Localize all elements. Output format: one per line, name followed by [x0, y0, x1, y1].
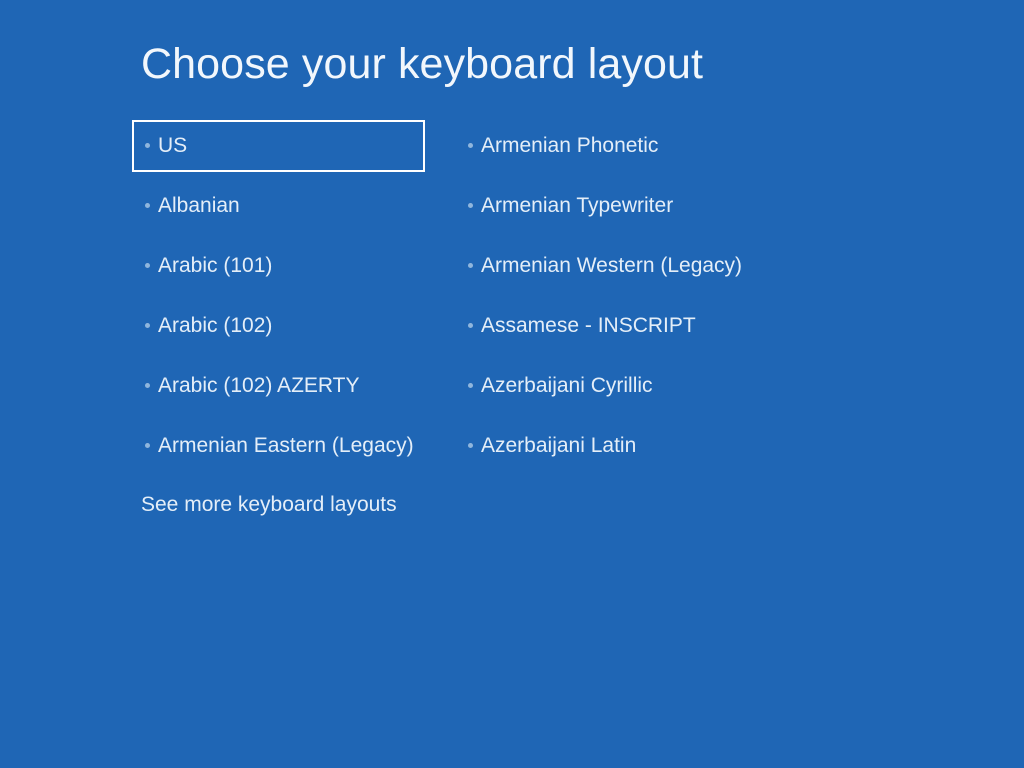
see-more-keyboard-layouts-link[interactable]: See more keyboard layouts — [141, 492, 397, 518]
keyboard-layout-item-label: Azerbaijani Cyrillic — [481, 373, 653, 399]
keyboard-layout-item[interactable]: Assamese - INSCRIPT — [455, 300, 785, 352]
keyboard-layout-item[interactable]: Arabic (102) AZERTY — [132, 360, 432, 412]
keyboard-layout-item[interactable]: Arabic (102) — [132, 300, 432, 352]
page-title: Choose your keyboard layout — [141, 36, 703, 92]
bullet-icon — [468, 263, 473, 268]
layout-list-right-column: Armenian PhoneticArmenian TypewriterArme… — [455, 120, 785, 480]
bullet-icon — [145, 263, 150, 268]
keyboard-layout-item[interactable]: US — [132, 120, 425, 172]
keyboard-layout-screen: Choose your keyboard layout USAlbanianAr… — [0, 0, 1024, 768]
keyboard-layout-item-label: Albanian — [158, 193, 240, 219]
bullet-icon — [145, 143, 150, 148]
bullet-icon — [145, 203, 150, 208]
keyboard-layout-item[interactable]: Azerbaijani Latin — [455, 420, 785, 472]
bullet-icon — [145, 443, 150, 448]
keyboard-layout-item-label: Armenian Western (Legacy) — [481, 253, 742, 279]
keyboard-layout-item-label: Assamese - INSCRIPT — [481, 313, 696, 339]
keyboard-layout-item-label: Arabic (102) AZERTY — [158, 373, 360, 399]
keyboard-layout-item[interactable]: Arabic (101) — [132, 240, 432, 292]
keyboard-layout-item-label: US — [158, 133, 187, 159]
keyboard-layout-item-label: Armenian Eastern (Legacy) — [158, 433, 414, 459]
bullet-icon — [468, 143, 473, 148]
bullet-icon — [468, 323, 473, 328]
bullet-icon — [145, 323, 150, 328]
keyboard-layout-item-label: Armenian Phonetic — [481, 133, 658, 159]
keyboard-layout-item-label: Arabic (101) — [158, 253, 272, 279]
bullet-icon — [468, 203, 473, 208]
keyboard-layout-item[interactable]: Albanian — [132, 180, 432, 232]
keyboard-layout-item[interactable]: Armenian Eastern (Legacy) — [132, 420, 432, 472]
keyboard-layout-item[interactable]: Azerbaijani Cyrillic — [455, 360, 785, 412]
layout-list-left-column: USAlbanianArabic (101)Arabic (102)Arabic… — [132, 120, 432, 480]
bullet-icon — [468, 443, 473, 448]
keyboard-layout-item-label: Arabic (102) — [158, 313, 272, 339]
bullet-icon — [145, 383, 150, 388]
keyboard-layout-item[interactable]: Armenian Typewriter — [455, 180, 785, 232]
keyboard-layout-item-label: Armenian Typewriter — [481, 193, 673, 219]
keyboard-layout-item-label: Azerbaijani Latin — [481, 433, 636, 459]
keyboard-layout-item[interactable]: Armenian Western (Legacy) — [455, 240, 785, 292]
bullet-icon — [468, 383, 473, 388]
keyboard-layout-item[interactable]: Armenian Phonetic — [455, 120, 785, 172]
